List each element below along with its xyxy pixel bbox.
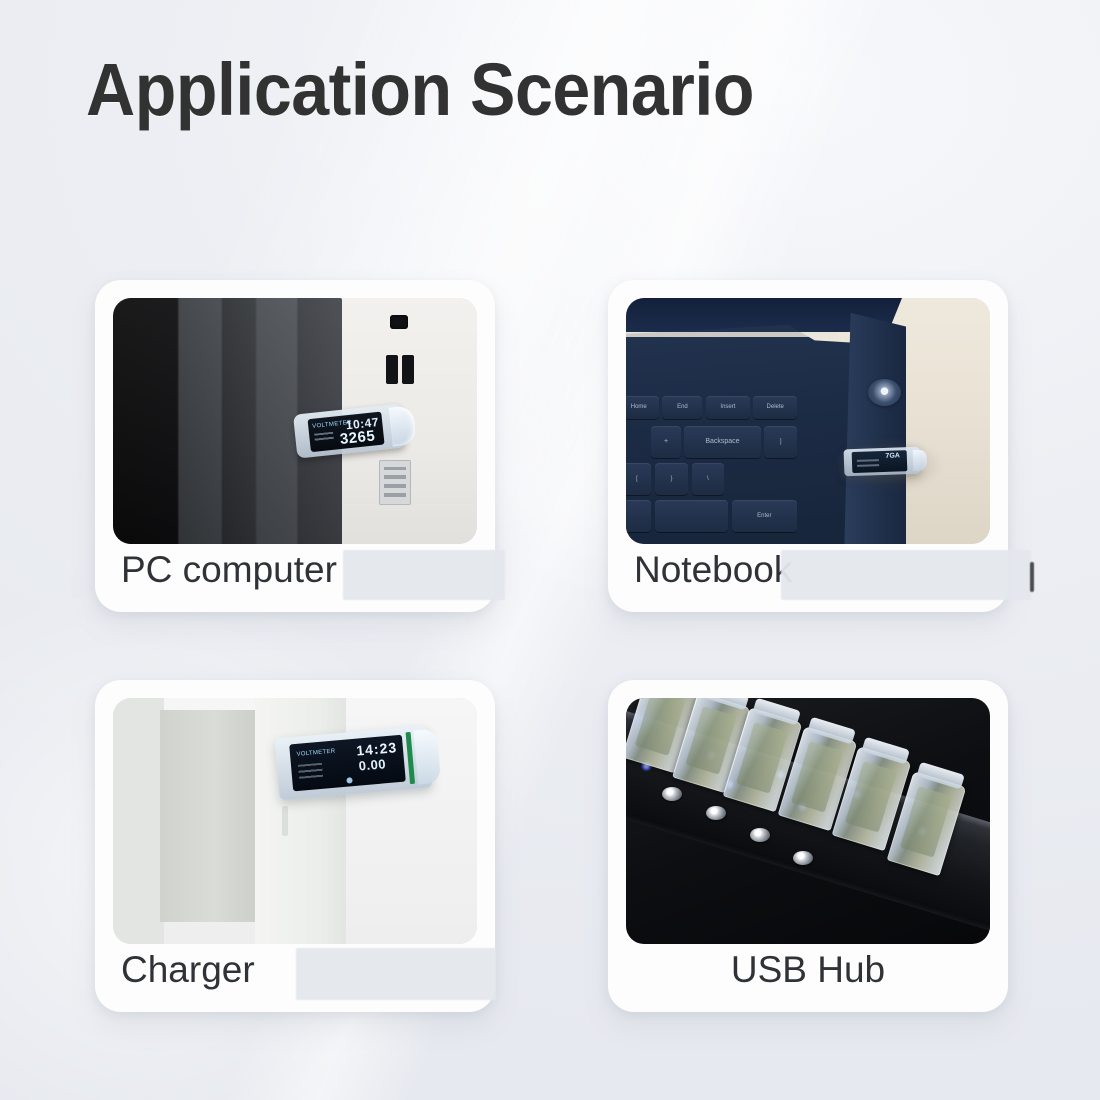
pc-usb-port-b-icon	[402, 355, 414, 385]
blurred-text-block-1	[343, 550, 505, 600]
key-backspace[interactable]: Backspace	[684, 426, 760, 458]
key-delete[interactable]: Delete	[753, 396, 797, 418]
charger-screen-brand: VOLTMETER	[296, 749, 335, 758]
hub-screw-icon	[662, 787, 682, 801]
charger-screen-value: 0.00	[358, 757, 387, 774]
pc-sticker	[379, 460, 412, 504]
notebook-usb-screen-value: 7GA	[886, 452, 901, 459]
charger-seam	[282, 806, 288, 836]
laptop-right-side	[844, 313, 906, 544]
usb-stick-screen: VOLTMETER 10:47 3265	[308, 411, 385, 451]
hub-screw-icon	[793, 851, 813, 865]
key-brace-right[interactable]: }	[655, 463, 688, 495]
key-backslash[interactable]: \	[692, 463, 725, 495]
application-scenario-page: Application Scenario VOLTMETER 10:47 326…	[0, 0, 1100, 1100]
notebook-usb-screen: 7GA	[852, 450, 908, 472]
page-title: Application Scenario	[86, 48, 754, 132]
scenario-card-usb-hub[interactable]: USB Hub	[608, 680, 1008, 1012]
key-enter[interactable]: Enter	[732, 500, 798, 532]
charger-scene: VOLTMETER 14:23 0.00	[113, 698, 477, 944]
charger-usb-screen: VOLTMETER 14:23 0.00	[289, 736, 406, 792]
blurred-text-block-2	[781, 550, 1031, 600]
charger-brick-side	[160, 710, 258, 922]
usb-screen-bars-icon	[314, 432, 334, 442]
charger-wall	[113, 698, 164, 944]
key-end[interactable]: End	[662, 396, 702, 418]
charger-usb-stick-device: VOLTMETER 14:23 0.00	[274, 726, 432, 801]
pc-usb-port-a-icon	[386, 355, 398, 385]
usb-hub-scene	[626, 698, 990, 944]
photo-pc-computer: VOLTMETER 10:47 3265	[113, 298, 477, 544]
key-spacer[interactable]	[655, 500, 728, 532]
notebook-usb-tip	[913, 449, 927, 471]
key-shift[interactable]	[626, 500, 651, 532]
key-bracket-right[interactable]: ]	[764, 426, 797, 458]
key-bracket-left[interactable]: [	[626, 463, 651, 495]
notebook-usb-stick-device: 7GA	[844, 447, 921, 477]
notebook-scene: Home End Insert Delete + Backspace ] [ }…	[626, 298, 990, 544]
usb-screen-value: 3265	[339, 427, 376, 448]
laptop-hinge-icon	[868, 379, 901, 406]
charger-screen-indicator-icon	[346, 778, 353, 785]
key-plus[interactable]: +	[651, 426, 680, 458]
photo-usb-hub	[626, 698, 990, 944]
photo-charger: VOLTMETER 14:23 0.00	[113, 698, 477, 944]
key-insert[interactable]: Insert	[706, 396, 750, 418]
pc-port-top-icon	[390, 315, 408, 329]
cropped-character-mark	[1030, 562, 1034, 592]
blurred-text-block-3	[296, 948, 496, 1000]
pc-scene: VOLTMETER 10:47 3265	[113, 298, 477, 544]
photo-notebook: Home End Insert Delete + Backspace ] [ }…	[626, 298, 990, 544]
charger-usb-tip	[413, 729, 441, 785]
laptop-deck-gap	[626, 332, 838, 337]
usb-stick-cap	[389, 405, 417, 446]
card-label-usb-hub: USB Hub	[608, 942, 1008, 998]
charger-screen-bars-icon	[297, 763, 323, 779]
key-home[interactable]: Home	[626, 396, 659, 418]
